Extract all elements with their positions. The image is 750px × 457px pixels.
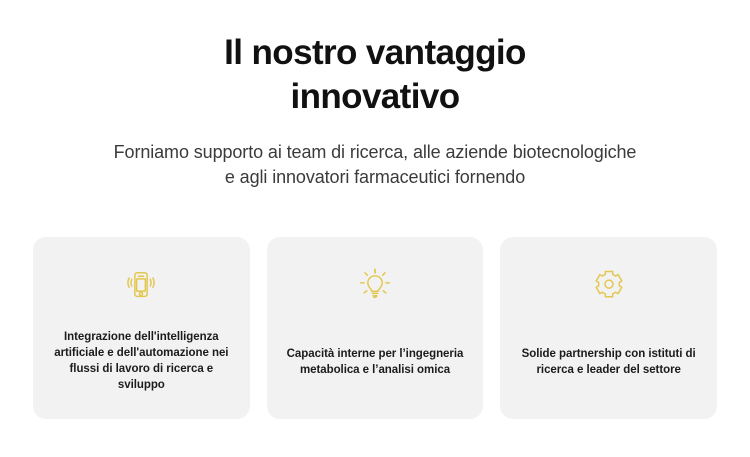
gear-icon xyxy=(587,263,631,307)
lightbulb-icon xyxy=(353,263,397,307)
feature-card-text: Integrazione dell'intelligenza artificia… xyxy=(47,317,236,393)
page-title: Il nostro vantaggio innovativo xyxy=(0,31,750,119)
feature-cards-row: Integrazione dell'intelligenza artificia… xyxy=(33,237,717,419)
vibrating-phone-icon xyxy=(119,263,163,307)
feature-section-page: Il nostro vantaggio innovativo Forniamo … xyxy=(0,0,750,457)
feature-card-partnerships[interactable]: Solide partnership con istituti di ricer… xyxy=(500,237,717,419)
feature-card-text: Solide partnership con istituti di ricer… xyxy=(514,332,703,378)
page-subtitle: Forniamo supporto ai team di ricerca, al… xyxy=(0,140,750,190)
feature-card-ai-integration[interactable]: Integrazione dell'intelligenza artificia… xyxy=(33,237,250,419)
feature-card-metabolic-engineering[interactable]: Capacità interne per l’ingegneria metabo… xyxy=(267,237,484,419)
feature-card-text: Capacità interne per l’ingegneria metabo… xyxy=(281,332,470,378)
hero-heading-block: Il nostro vantaggio innovativo Forniamo … xyxy=(0,31,750,190)
